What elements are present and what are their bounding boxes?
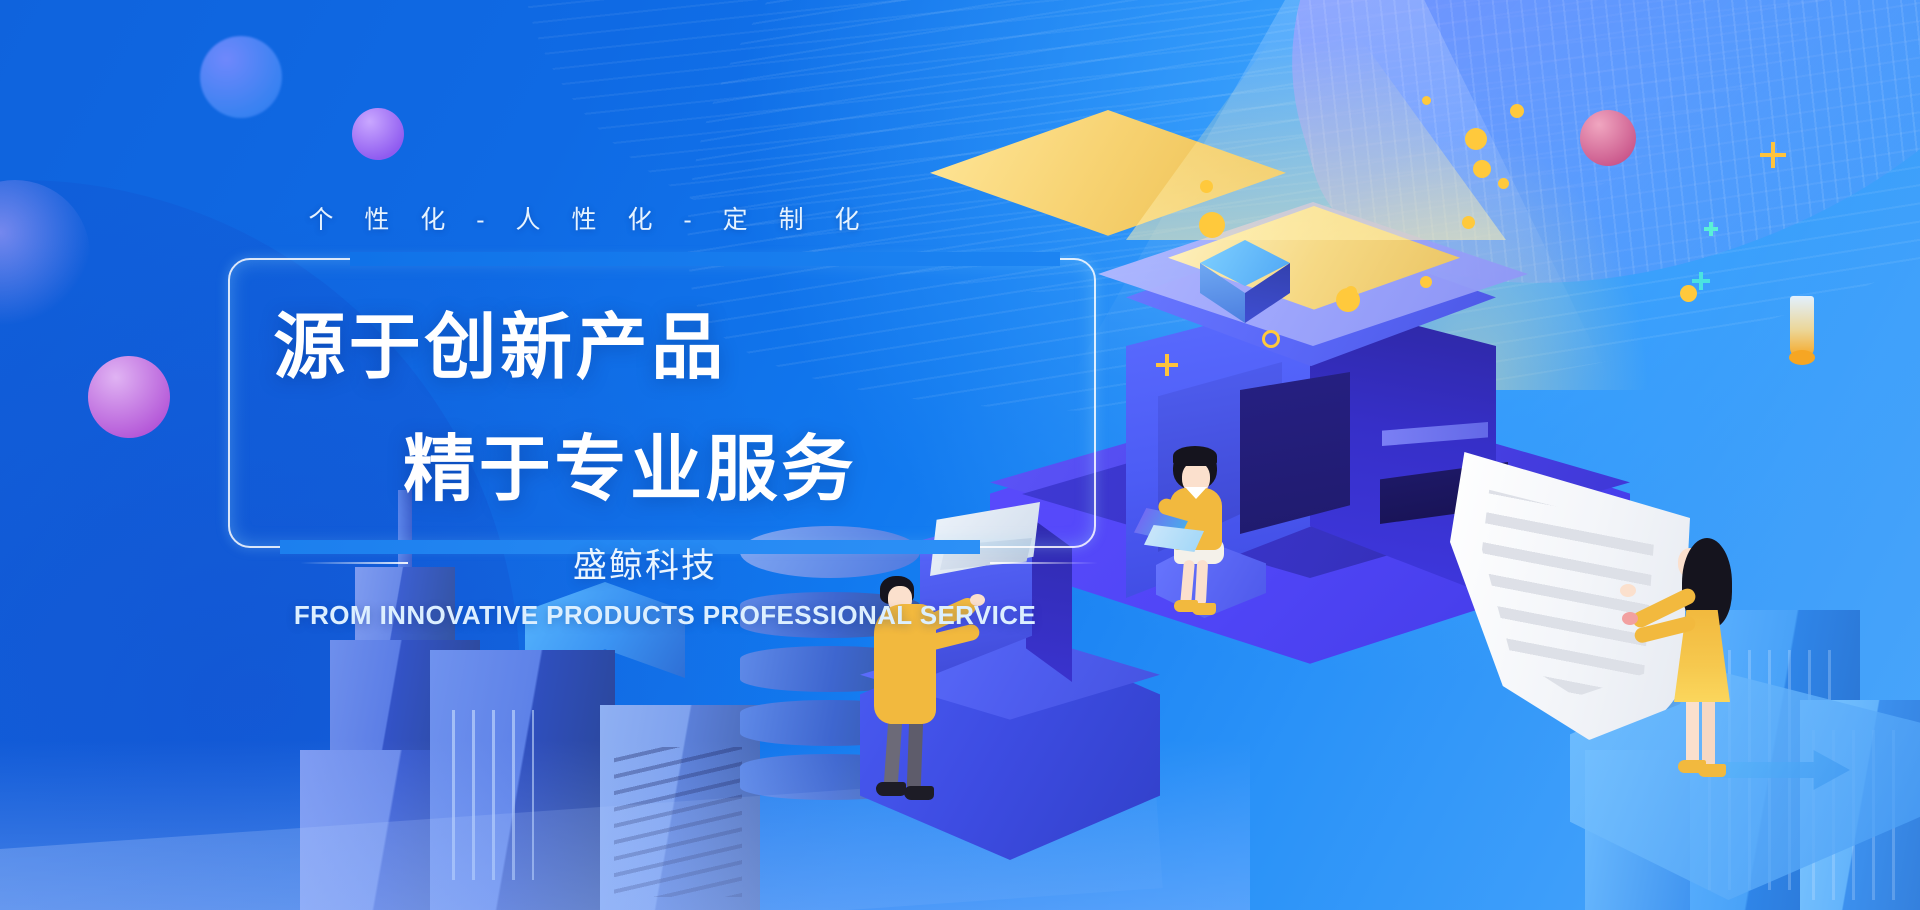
facade-stripes [614,747,742,897]
hero-banner: 个 性 化 - 人 性 化 - 定 制 化 源于创新产品 精于专业服务 盛鲸科技… [0,0,1920,910]
headline-line-2: 精于专业服务 [130,410,1130,515]
building-mid-right [600,705,760,910]
tagline-english: FROM INNOVATIVE PRODUCTS PROFESSIONAL SE… [0,600,1330,631]
standing-woman-hand [1622,612,1638,625]
standing-woman-hand [1620,584,1636,597]
building-mid-left [430,650,615,910]
seated-woman-hair-front [1173,446,1217,466]
blue-sphere-icon [200,36,282,118]
man-shoe [876,782,906,796]
tagline-top: 个 性 化 - 人 性 化 - 定 制 化 [0,200,1180,236]
violet-sphere-small-icon [352,108,404,160]
standing-woman-leg [1702,696,1715,768]
standing-woman-shoe [1698,764,1726,777]
man-leg [907,716,924,790]
window-stripes [452,710,534,880]
isometric-cube-icon [1200,240,1290,330]
tower-segment-base [300,750,510,910]
yellow-dot-icon [1422,96,1431,105]
tower-segment-mid [330,640,480,790]
man-shoe [904,786,934,800]
standing-woman-leg [1686,696,1699,768]
frame-top-gap [350,252,1060,266]
headline-line-1: 源于创新产品 [0,288,1000,393]
brand-rule-right [990,562,1098,564]
